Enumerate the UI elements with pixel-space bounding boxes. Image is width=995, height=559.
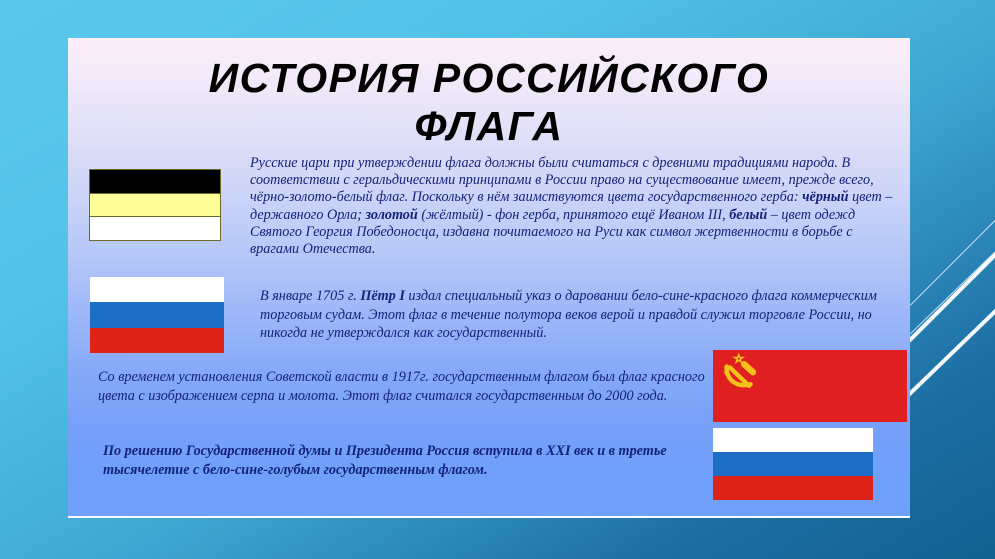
paragraph-state-duma: По решению Государственной думы и Презид… [103, 442, 713, 480]
body-text: В январе 1705 г. [260, 288, 360, 304]
body-text: Русские цари при утверждении флага должн… [250, 155, 874, 205]
imperial-flag-image [89, 169, 221, 241]
paragraph-soviet-flag: Со временем установления Советской власт… [98, 368, 718, 405]
russian-tricolor-flag-image-top [90, 277, 224, 353]
emphasized-text: По решению Государственной думы и Презид… [103, 443, 667, 478]
page-title-line-2: ФЛАГА [108, 102, 870, 150]
flag-band-white [713, 428, 873, 452]
paragraph-peter-the-great: В январе 1705 г. Пётр I издал специальны… [260, 287, 900, 343]
emphasized-text: Пётр I [360, 288, 405, 304]
paragraph-imperial-flag: Русские цари при утверждении флага должн… [250, 155, 900, 258]
flag-band-red [713, 476, 873, 500]
soviet-flag-image [713, 350, 907, 422]
content-panel: ИСТОРИЯ РОССИЙСКОГОФЛАГА [68, 38, 910, 518]
flag-band-blue [90, 302, 224, 327]
flag-band-gold [90, 193, 220, 216]
page-title: ИСТОРИЯ РОССИЙСКОГОФЛАГА [108, 54, 870, 150]
flag-band-red [90, 328, 224, 353]
body-text: Со временем установления Советской власт… [98, 369, 705, 404]
flag-band-black [90, 170, 220, 193]
flag-band-white [90, 277, 224, 302]
page-title-line-1: ИСТОРИЯ РОССИЙСКОГО [108, 54, 870, 102]
slide: ИСТОРИЯ РОССИЙСКОГОФЛАГА [0, 0, 995, 559]
emphasized-text: чёрный [802, 189, 848, 205]
emphasized-text: золотой [365, 207, 417, 223]
flag-band-blue [713, 452, 873, 476]
emphasized-text: белый [729, 207, 767, 223]
hammer-and-sickle-icon [721, 353, 761, 393]
body-text: (жёлтый) - фон герба, принятого ещё Иван… [418, 207, 729, 223]
russian-tricolor-flag-image-bottom [713, 428, 873, 500]
flag-band-white [90, 217, 220, 240]
